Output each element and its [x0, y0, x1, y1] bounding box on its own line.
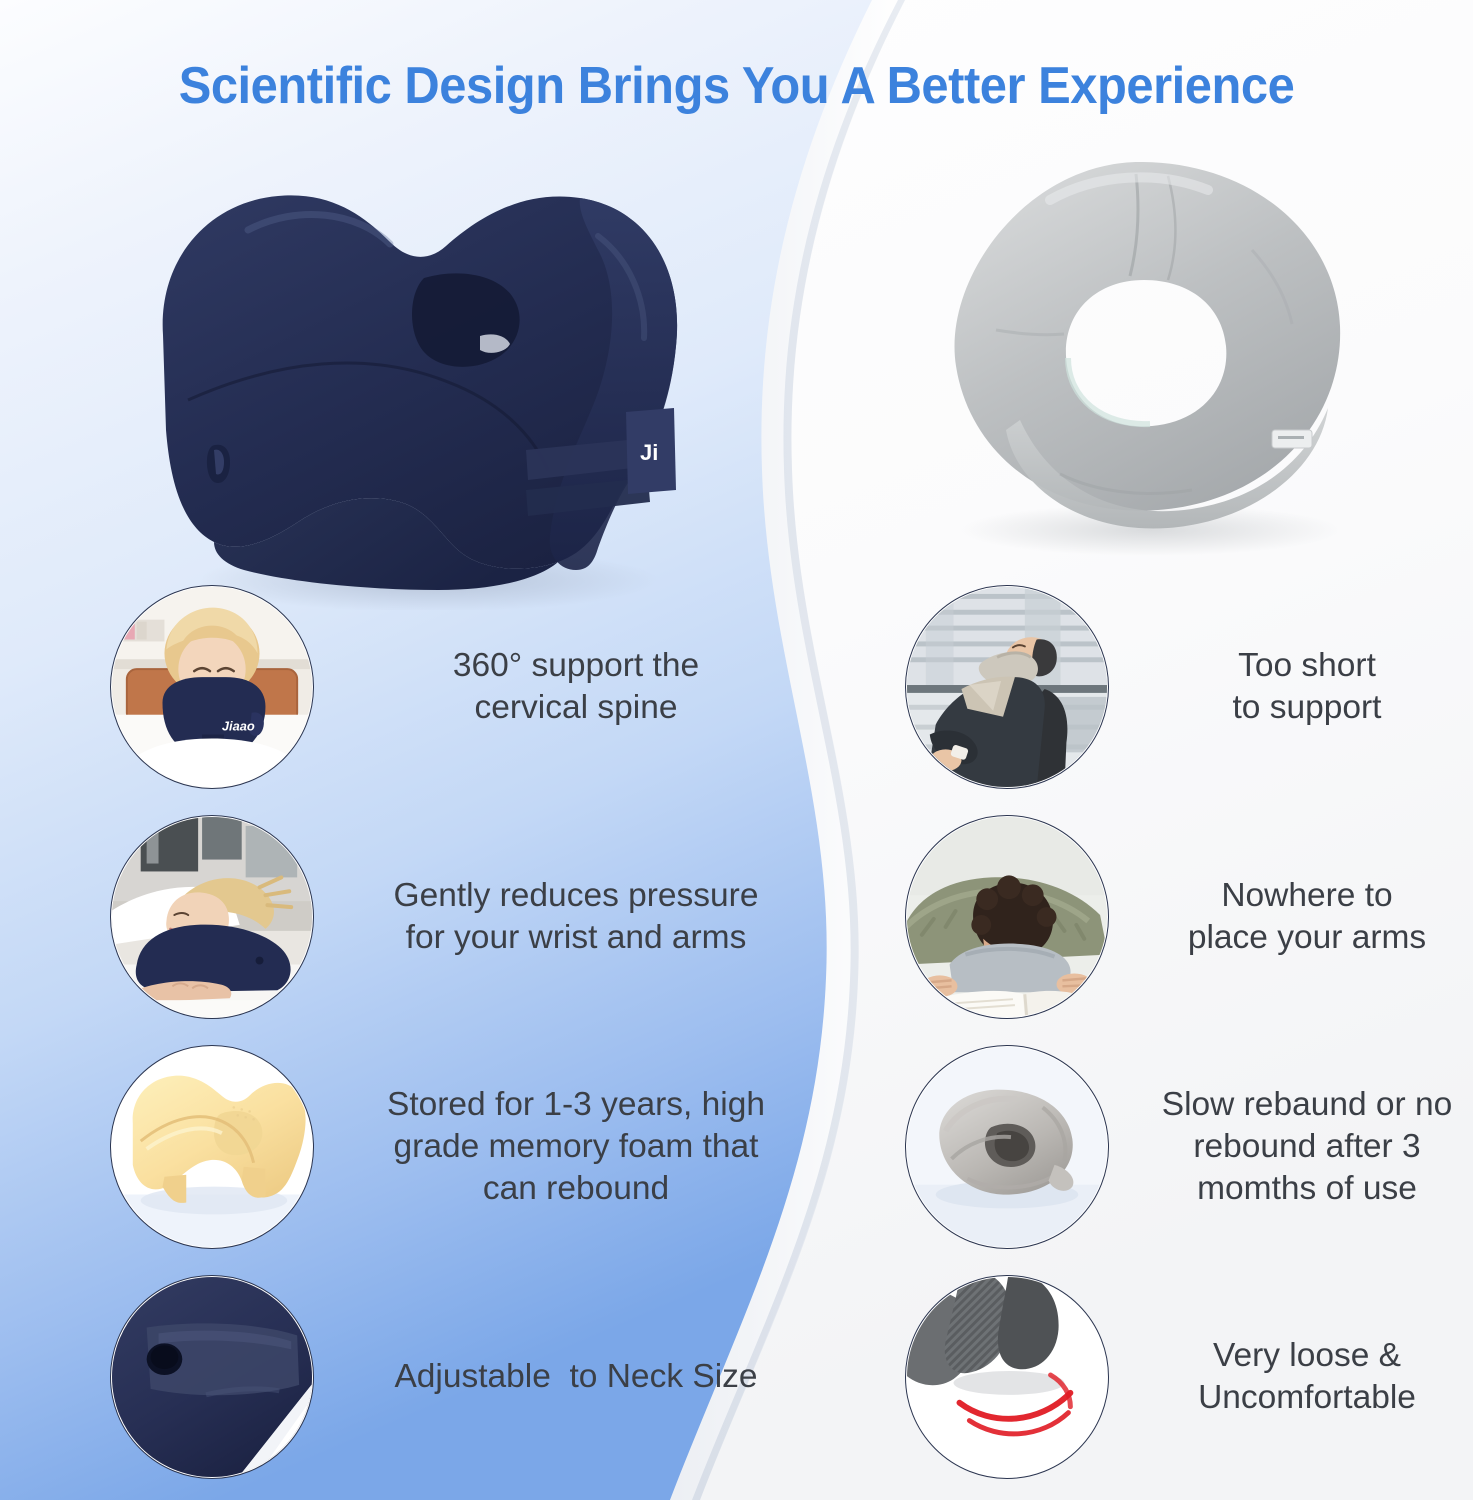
feature-row: Very loose & Uncomfortable [905, 1262, 1465, 1492]
page-title: Scientific Design Brings You A Better Ex… [44, 56, 1429, 116]
svg-text:Jiaao: Jiaao [222, 719, 255, 734]
feature-text: Slow rebaund or no rebound after 3 momth… [1149, 1084, 1465, 1211]
thumb-loose-grey-fabric-with-red-motion-arcs [905, 1275, 1109, 1479]
feature-row: Adjustable to Neck Size [110, 1262, 810, 1492]
drawbacks-column: Too short to support [905, 572, 1465, 1492]
feature-row: Nowhere to place your arms [905, 802, 1465, 1032]
hero-image-grey-pillow [900, 130, 1380, 560]
feature-text: Gently reduces pressure for your wrist a… [342, 875, 810, 959]
feature-row: Gently reduces pressure for your wrist a… [110, 802, 810, 1032]
infographic-canvas: Scientific Design Brings You A Better Ex… [0, 0, 1473, 1500]
feature-text: Nowhere to place your arms [1149, 875, 1465, 959]
benefits-column: Jiaao 360° support the cervical spine [110, 572, 810, 1492]
feature-row: Too short to support [905, 572, 1465, 802]
thumb-person-sleeping-face-down-on-grey-pillow [905, 815, 1109, 1019]
strap-logo-text: Ji [640, 440, 658, 465]
feature-row: Slow rebaund or no rebound after 3 momth… [905, 1032, 1465, 1262]
thumb-collapsed-grey-pillow-no-rebound [905, 1045, 1109, 1249]
feature-text: Adjustable to Neck Size [342, 1356, 810, 1398]
feature-row: Stored for 1-3 years, high grade memory … [110, 1032, 810, 1262]
thumb-woman-wearing-navy-neck-pillow-at-desk: Jiaao [110, 585, 314, 789]
feature-text: Too short to support [1149, 645, 1465, 729]
feature-row: Jiaao 360° support the cervical spine [110, 572, 810, 802]
thumb-woman-resting-head-on-navy-pillow [110, 815, 314, 1019]
feature-text: Very loose & Uncomfortable [1149, 1335, 1465, 1419]
thumb-yellow-memory-foam-core [110, 1045, 314, 1249]
thumb-businessman-head-tilted-back-unsupported [905, 585, 1109, 789]
feature-text: 360° support the cervical spine [342, 645, 810, 729]
thumb-navy-strap-adjuster-closeup [110, 1275, 314, 1479]
hero-image-navy-pillow: Ji [128, 150, 708, 610]
feature-text: Stored for 1-3 years, high grade memory … [342, 1084, 810, 1211]
